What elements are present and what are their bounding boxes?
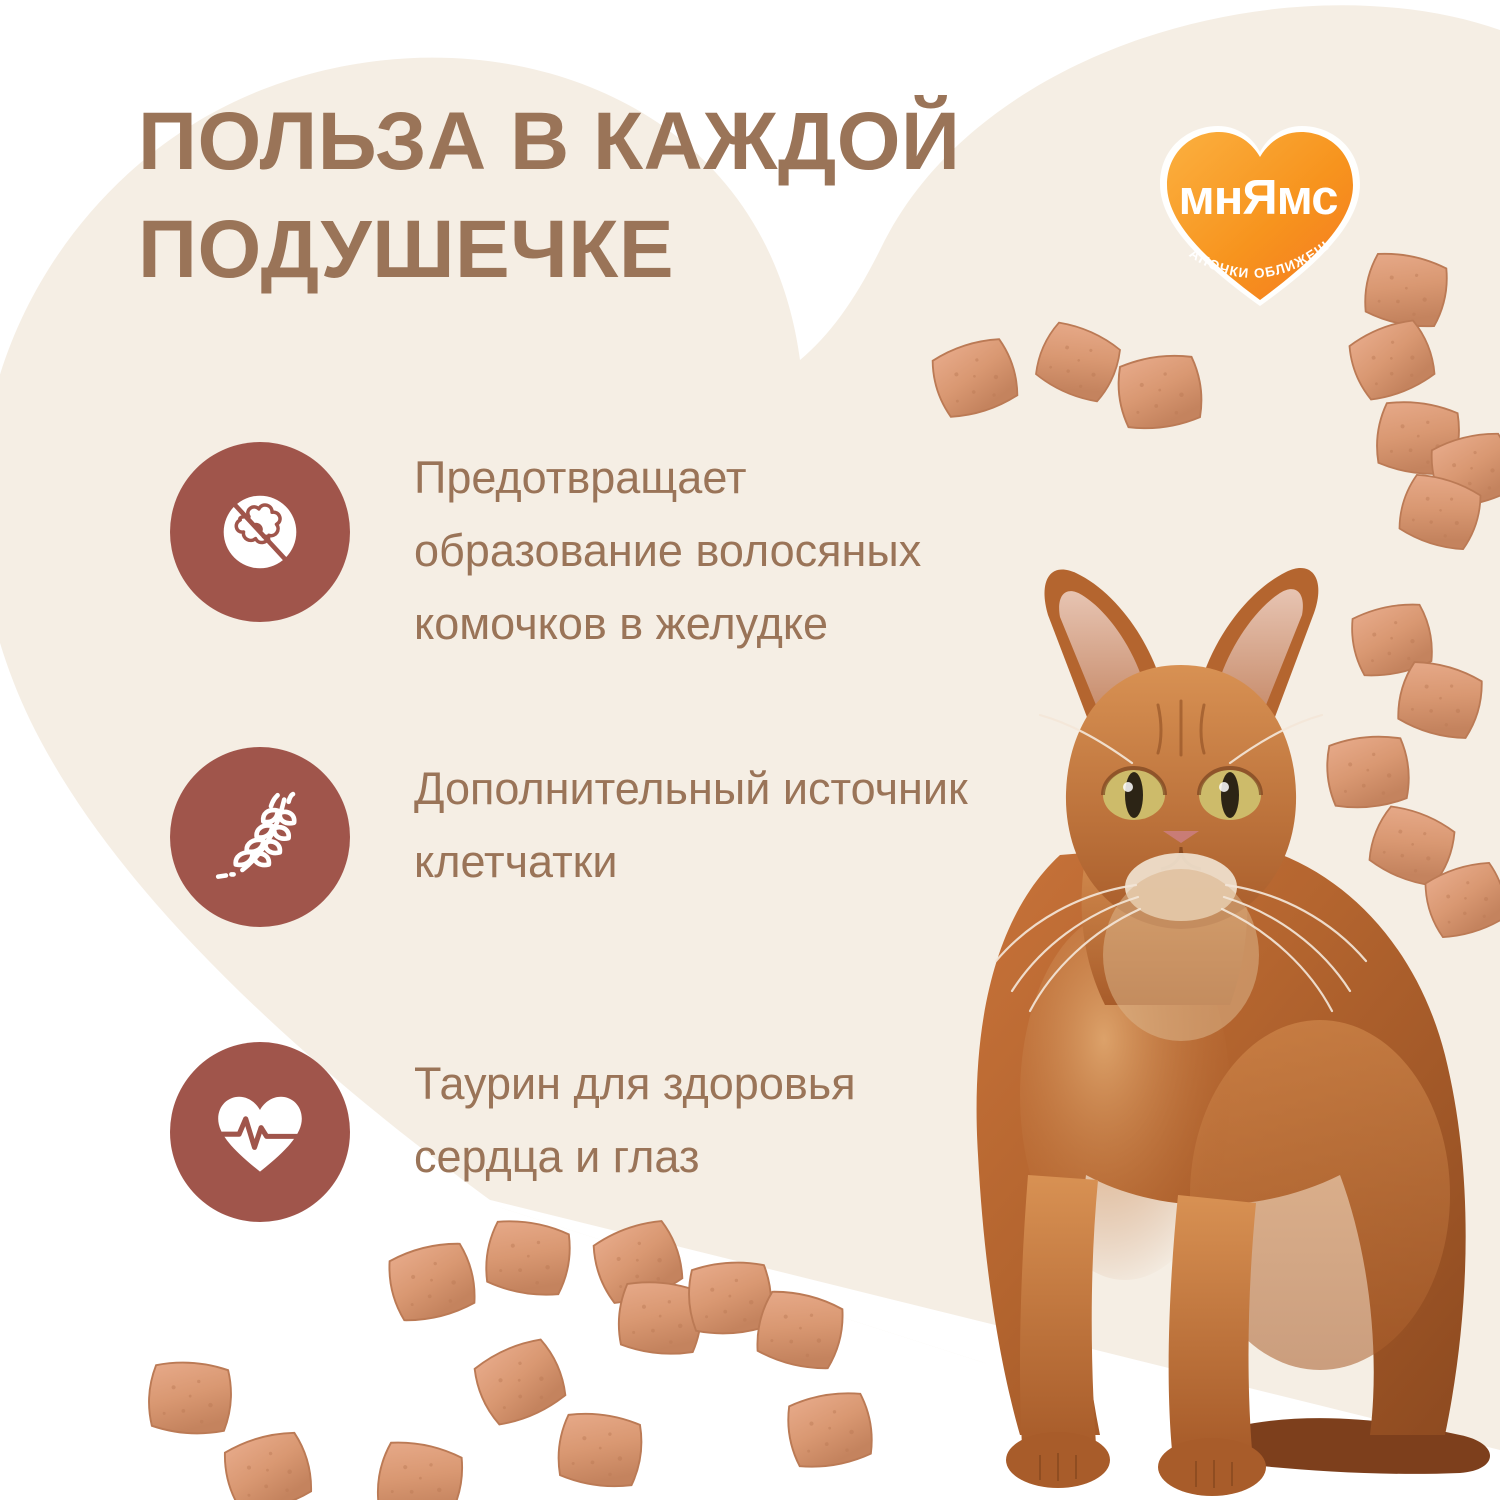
no-hairball-icon xyxy=(170,442,350,622)
wheat-icon xyxy=(170,747,350,927)
benefit-label: Дополнительный источник клетчатки xyxy=(414,747,974,899)
benefit-item-hairball: Предотвращает образование волосяных комо… xyxy=(170,442,974,661)
page-title: ПОЛЬЗА В КАЖДОЙ ПОДУШЕЧКЕ xyxy=(138,88,1098,304)
logo-brand-text: мнЯмс xyxy=(1179,171,1338,225)
benefit-item-taurine: Таурин для здоровья сердца и глаз xyxy=(170,1042,974,1222)
benefit-label: Таурин для здоровья сердца и глаз xyxy=(414,1042,974,1194)
benefit-item-fiber: Дополнительный источник клетчатки xyxy=(170,747,974,927)
promo-banner: ПОЛЬЗА В КАЖДОЙ ПОДУШЕЧКЕ мнЯмс ЛАПОЧКИ … xyxy=(0,0,1500,1500)
benefit-label: Предотвращает образование волосяных комо… xyxy=(414,442,974,661)
cat-photo xyxy=(900,555,1500,1500)
brand-logo[interactable]: мнЯмс ЛАПОЧКИ ОБЛИЖЕШЬ! xyxy=(1150,118,1370,318)
heart-pulse-icon xyxy=(170,1042,350,1222)
